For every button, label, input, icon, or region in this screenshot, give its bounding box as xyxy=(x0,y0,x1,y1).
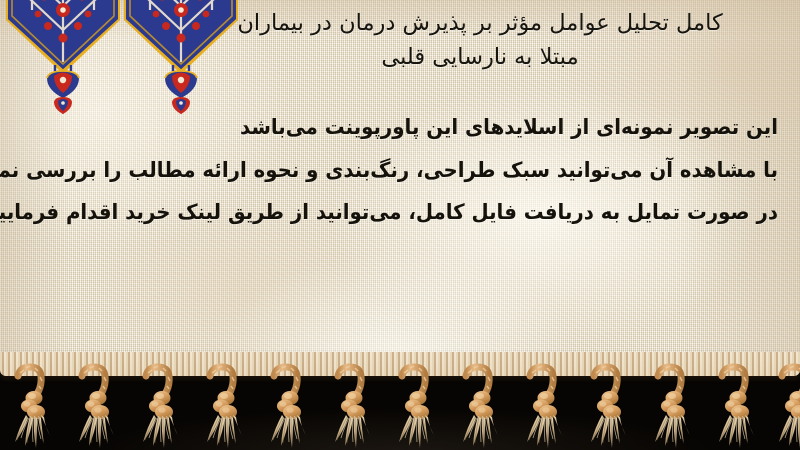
knotted-tassel-fringe xyxy=(0,352,800,450)
presentation-slide: کامل تحلیل عوامل مؤثر بر پذیرش درمان در … xyxy=(0,0,800,450)
persian-carpet-medallion-icon xyxy=(4,0,122,118)
slide-body-line-2: با مشاهده آن می‌توانید سبک طراحی، رنگ‌بن… xyxy=(64,149,778,192)
slide-title: کامل تحلیل عوامل مؤثر بر پذیرش درمان در … xyxy=(180,6,780,74)
slide-body-line-3: در صورت تمایل به دریافت فایل کامل، می‌تو… xyxy=(64,191,778,234)
slide-title-line-1: کامل تحلیل عوامل مؤثر بر پذیرش درمان در … xyxy=(180,6,780,40)
slide-body-line-1: این تصویر نمونه‌ای از اسلایدهای این پاور… xyxy=(64,106,778,149)
slide-body: این تصویر نمونه‌ای از اسلایدهای این پاور… xyxy=(18,106,778,234)
slide-title-line-2: مبتلا به نارسایی قلبی xyxy=(180,40,780,74)
